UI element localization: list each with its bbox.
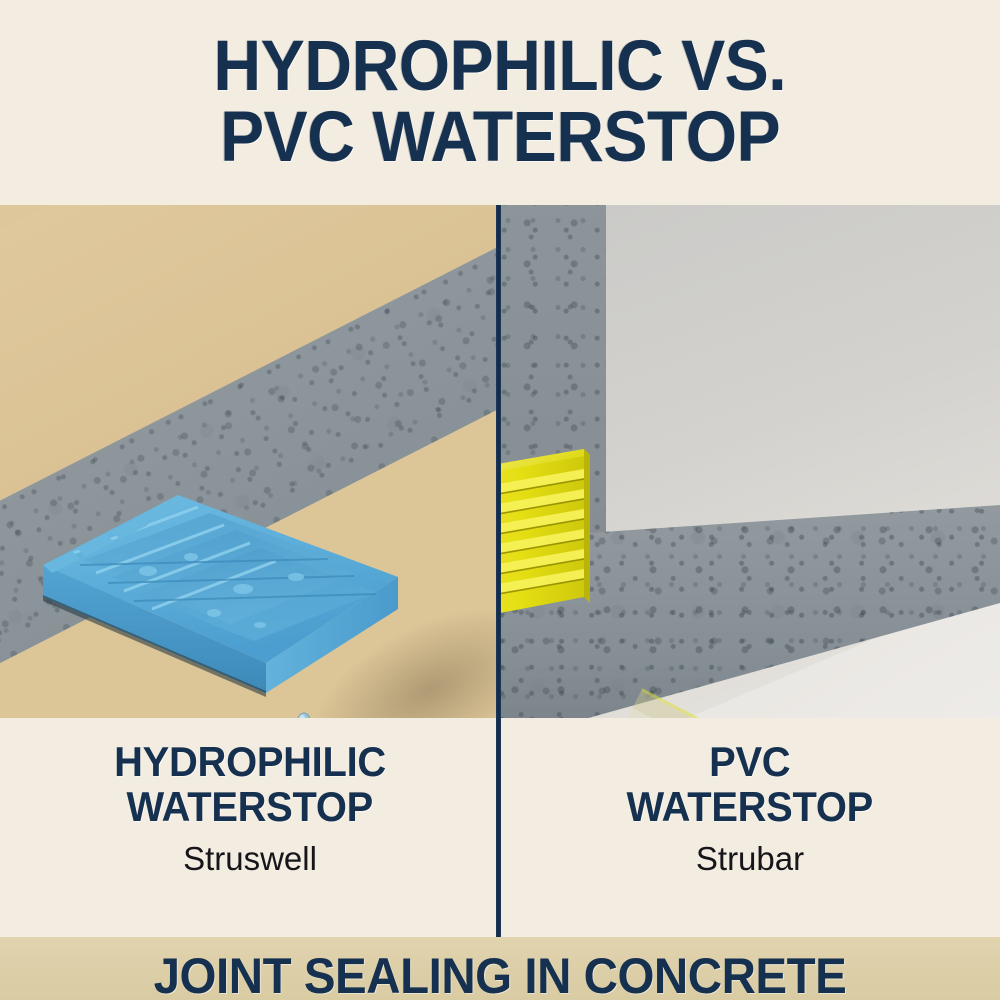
caption-right-pvc: PVC WATERSTOP Strubar [500,718,1000,937]
water-droplet [296,710,312,718]
vertical-divider [496,205,501,937]
title-line-1: HYDROPHILIC VS. [214,32,787,102]
caption-left-heading-line1: HYDROPHILIC [114,740,386,785]
caption-left-hydrophilic: HYDROPHILIC WATERSTOP Struswell [0,718,500,937]
pvc-waterstop-panel [498,445,616,625]
caption-left-brand: Struswell [183,841,317,877]
title-line-2: PVC WATERSTOP [220,103,780,173]
title-block: HYDROPHILIC VS. PVC WATERSTOP [0,0,1000,205]
caption-right-heading-line1: PVC [709,740,790,785]
caption-left-heading-line2: WATERSTOP [127,785,373,830]
left-illustration-hydrophilic [0,205,498,718]
hydrophilic-waterstop-block [28,485,398,715]
caption-right-brand: Strubar [696,841,804,877]
caption-right-heading-line2: WATERSTOP [627,785,873,830]
right-illustration-pvc [498,205,1000,718]
infographic-poster: HYDROPHILIC VS. PVC WATERSTOP [0,0,1000,1000]
footer-band: JOINT SEALING IN CONCRETE [0,937,1000,1000]
footer-text: JOINT SEALING IN CONCRETE [25,947,975,1000]
